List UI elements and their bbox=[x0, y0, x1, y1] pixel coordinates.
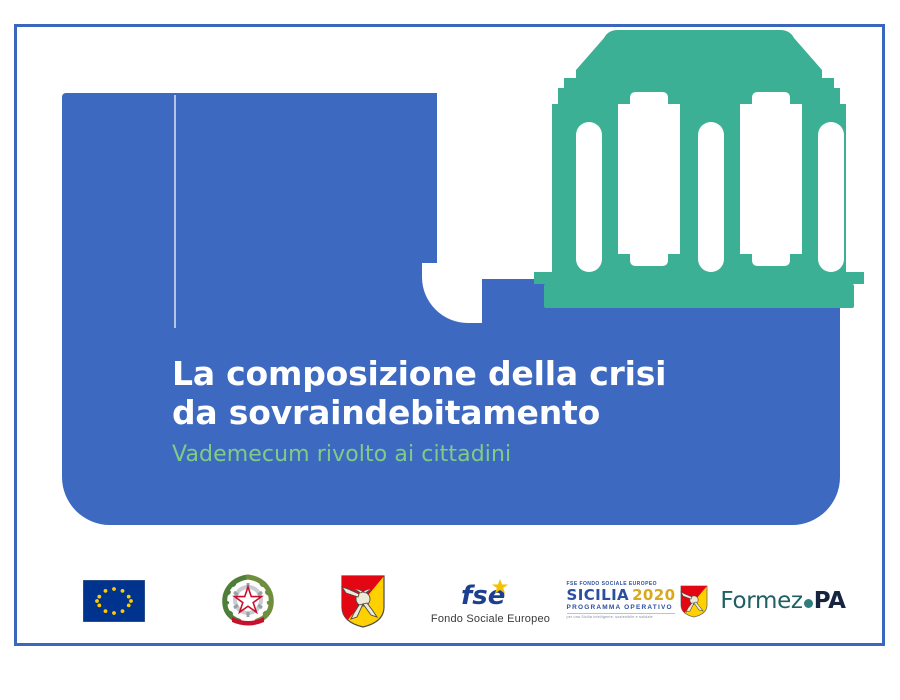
italian-republic-emblem-icon bbox=[188, 566, 308, 636]
fse-logo-icon: fse Fondo Sociale Europeo bbox=[418, 566, 563, 636]
cover-page: La composizione della crisida sovraindeb… bbox=[0, 0, 900, 700]
fse-logo-caption: Fondo Sociale Europeo bbox=[431, 613, 550, 625]
po-logo-year: 2020 bbox=[632, 586, 675, 604]
page-title: La composizione della crisida sovraindeb… bbox=[172, 355, 732, 433]
logo-strip: fse Fondo Sociale Europeo FSE FONDO SOCI… bbox=[40, 566, 860, 636]
page-title-line-1: La composizione della crisi bbox=[172, 354, 666, 393]
classical-temple-icon bbox=[530, 26, 868, 318]
po-logo-fine-print: per una Sicilia intelligente, sostenibil… bbox=[567, 616, 676, 620]
page-title-line-2: da sovraindebitamento bbox=[172, 393, 600, 432]
po-logo-subtitle: PROGRAMMA OPERATIVO bbox=[567, 605, 676, 612]
po-sicilia-2020-logo-icon: FSE FONDO SOCIALE EUROPEO SICILIA2020 PR… bbox=[563, 566, 713, 636]
po-logo-rule bbox=[567, 613, 676, 614]
european-union-flag-icon bbox=[40, 566, 188, 636]
po-logo-trinacria-icon bbox=[679, 584, 709, 618]
formez-pa-suffix: PA bbox=[814, 588, 846, 614]
vertical-divider-line bbox=[174, 95, 176, 328]
po-logo-sicilia: SICILIA bbox=[567, 586, 630, 604]
formez-wordmark: Formez bbox=[720, 588, 802, 614]
formez-pa-logo-icon: FormezPA bbox=[713, 566, 853, 636]
title-block: La composizione della crisida sovraindeb… bbox=[172, 355, 732, 468]
page-subtitle: Vademecum rivolto ai cittadini bbox=[172, 442, 732, 468]
formez-dot-icon bbox=[804, 599, 813, 608]
sicily-trinacria-coat-of-arms-icon bbox=[308, 566, 418, 636]
